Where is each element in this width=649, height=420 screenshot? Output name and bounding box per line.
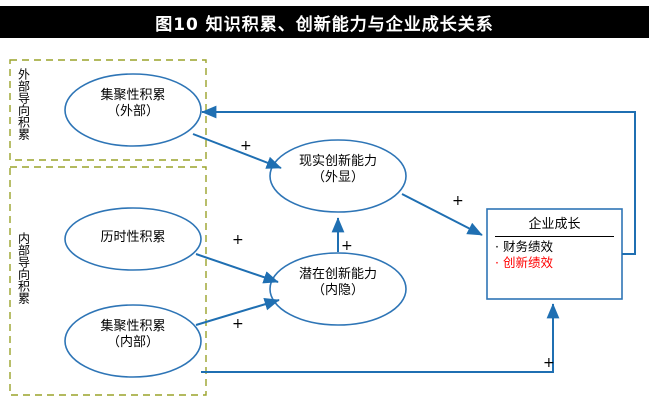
group-label-external: 外部导向积累 (16, 68, 29, 140)
growth-item-innovation: · 创新绩效 (495, 255, 614, 272)
node-ellipse-agg-ext (65, 74, 201, 146)
growth-box-divider (495, 236, 614, 237)
growth-box: 企业成长 · 财务绩效 · 创新绩效 (495, 216, 614, 272)
edge-label-plus-2: + (452, 193, 464, 209)
figure-title-bar: 图10 知识积累、创新能力与企业成长关系 (0, 6, 649, 38)
edge-label-plus-4: + (341, 238, 353, 254)
group-label-internal: 内部导向积累 (16, 232, 29, 304)
page-title: 图10 知识积累、创新能力与企业成长关系 (155, 10, 494, 35)
node-ellipse-potential-innov (270, 253, 406, 325)
node-ellipse-real-innov (270, 140, 406, 212)
edge-label-plus-1: + (240, 138, 252, 154)
edge-label-plus-6: + (543, 355, 555, 371)
growth-item-financial: · 财务绩效 (495, 239, 614, 256)
node-ellipse-diachronic (65, 208, 201, 270)
edge-label-plus-3: + (232, 232, 244, 248)
arrow-diachronic-to-potential (196, 254, 278, 282)
node-ellipse-agg-int (65, 305, 201, 377)
edge-label-plus-5: + (232, 316, 244, 332)
arrow-realinnov-to-growth (402, 194, 482, 235)
arrow-aggext-to-realinnov (193, 134, 281, 168)
diagram-canvas: 外部导向积累 内部导向积累 集聚性积累 （外部） 现实创新能力 （外显） 历时性… (0, 42, 649, 420)
growth-box-title: 企业成长 (495, 216, 614, 235)
